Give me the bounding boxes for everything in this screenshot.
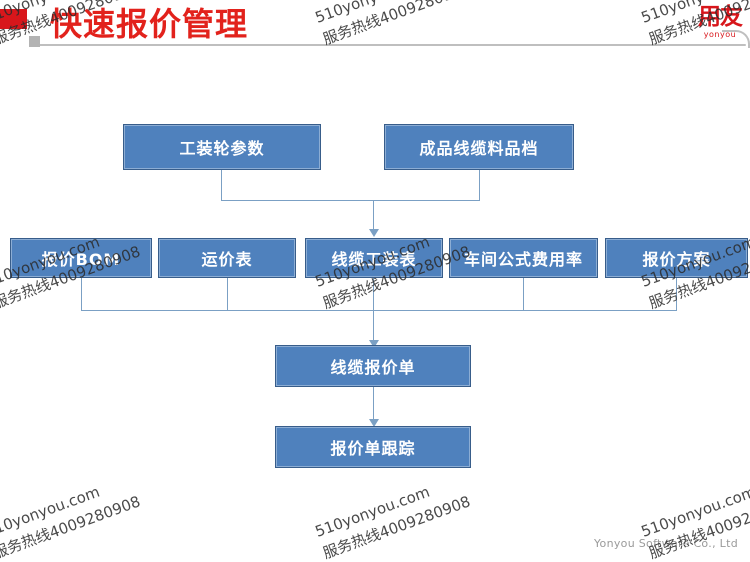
brand-logo: 用友 yonyou — [698, 6, 742, 39]
connector-segment — [81, 278, 82, 311]
header-bullet-square — [29, 36, 40, 47]
connector-segment — [227, 278, 228, 311]
flow-node-quotation-tracking[interactable]: 报价单跟踪 — [275, 426, 471, 468]
connector-arrowhead — [369, 229, 379, 237]
header-divider-line — [40, 44, 746, 46]
flow-node-label: 线缆报价单 — [330, 354, 415, 378]
watermark-stamp: 510yonyou.com服务热线4009280908 — [0, 469, 144, 562]
flow-node-label: 报价方案 — [642, 246, 710, 270]
connector-segment — [373, 387, 374, 423]
brand-logo-cn: 用友 — [698, 6, 742, 29]
flow-node-label: 报价单跟踪 — [330, 435, 415, 459]
connector-segment — [373, 200, 374, 231]
flow-node-label: 工装轮参数 — [179, 135, 264, 159]
watermark-line-site: 510yonyou.com — [638, 469, 750, 544]
flow-node-cable-tooling-table[interactable]: 线缆工装表 — [305, 238, 443, 278]
connector-segment — [221, 170, 222, 201]
watermark-line-site: 510yonyou.com — [312, 0, 466, 30]
connector-segment — [523, 278, 524, 311]
flow-node-workshop-formula-cost-rate[interactable]: 车间公式费用率 — [449, 238, 598, 278]
flow-node-label: 线缆工装表 — [331, 246, 416, 270]
watermark-line-hotline: 服务热线4009280908 — [0, 491, 144, 562]
watermark-line-hotline: 服务热线4009280908 — [646, 491, 750, 562]
connector-segment — [676, 278, 677, 311]
footer-copyright: Yonyou Software Co., Ltd — [594, 537, 738, 550]
watermark-line-hotline: 服务热线4009280908 — [320, 491, 474, 562]
flow-node-quote-bom[interactable]: 报价BOM — [10, 238, 152, 278]
flow-node-quote-plan[interactable]: 报价方案 — [605, 238, 748, 278]
flow-node-finished-cable-material-spec[interactable]: 成品线缆料品档 — [384, 124, 574, 170]
flow-node-tooling-wheel-params[interactable]: 工装轮参数 — [123, 124, 321, 170]
slide-canvas: 快速报价管理 用友 yonyou 工装轮参数 成品线缆料品档 报价BOM 运价表… — [0, 0, 750, 562]
flow-node-label: 运价表 — [201, 246, 252, 270]
connector-segment — [373, 200, 480, 201]
watermark-line-site: 510yonyou.com — [0, 469, 136, 544]
flow-node-label: 车间公式费用率 — [464, 246, 583, 270]
flow-node-label: 报价BOM — [42, 246, 121, 270]
page-title: 快速报价管理 — [50, 4, 248, 44]
connector-segment — [479, 170, 480, 201]
header-accent-block — [0, 9, 27, 29]
flow-node-label: 成品线缆料品档 — [419, 135, 538, 159]
connector-segment — [221, 200, 373, 201]
connector-segment — [373, 310, 374, 343]
connector-segment — [373, 278, 374, 311]
connector-bus-line — [81, 310, 677, 311]
brand-logo-en: yonyou — [698, 31, 742, 39]
watermark-stamp: 510yonyou.com服务热线4009280908 — [312, 469, 474, 562]
flow-node-cable-quotation[interactable]: 线缆报价单 — [275, 345, 471, 387]
watermark-line-site: 510yonyou.com — [312, 469, 466, 544]
flow-node-freight-rate-table[interactable]: 运价表 — [158, 238, 296, 278]
